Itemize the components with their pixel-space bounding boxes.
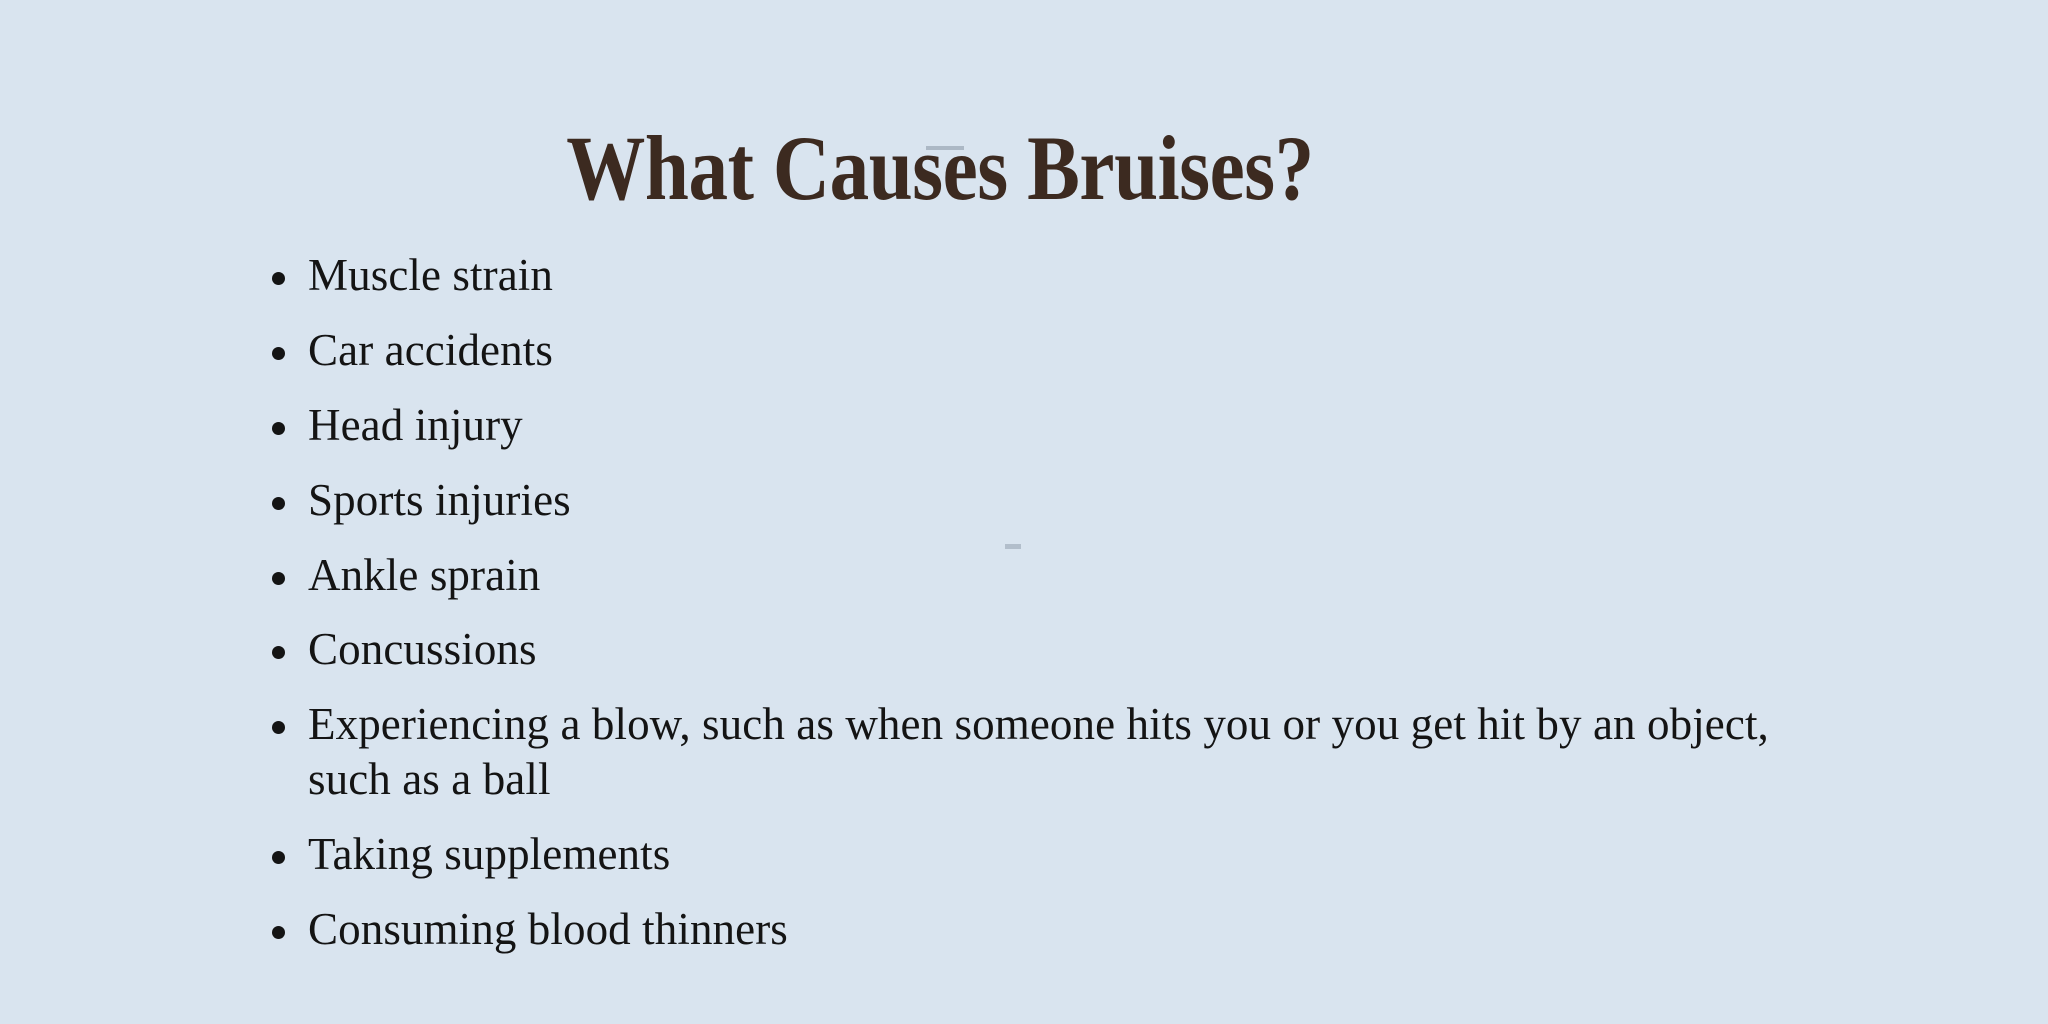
list-item: Car accidents <box>262 323 1822 378</box>
list-item: Muscle strain <box>262 248 1822 303</box>
list-item-label: Ankle sprain <box>308 550 540 600</box>
list-item-label: Car accidents <box>308 325 553 375</box>
list-item-label: Concussions <box>308 624 537 674</box>
list-item-label: Taking supplements <box>308 829 670 879</box>
list-item: Sports injuries <box>262 473 1822 528</box>
list-item: Head injury <box>262 398 1822 453</box>
list-item-label: Sports injuries <box>308 475 571 525</box>
page-title: What Causes Bruises? <box>132 120 1749 217</box>
list-item-label: Experiencing a blow, such as when someon… <box>308 699 1769 804</box>
slide-canvas: What Causes Bruises? Muscle strain Car a… <box>0 0 2048 1024</box>
list-item-label: Muscle strain <box>308 250 553 300</box>
list-item: Taking supplements <box>262 827 1822 882</box>
causes-bullet-list: Muscle strain Car accidents Head injury … <box>262 248 1822 957</box>
list-item: Consuming blood thinners <box>262 902 1822 957</box>
list-item-label: Head injury <box>308 400 523 450</box>
list-item: Ankle sprain <box>262 548 1822 603</box>
list-item: Concussions <box>262 622 1822 677</box>
list-item-label: Consuming blood thinners <box>308 904 788 954</box>
list-item: Experiencing a blow, such as when someon… <box>262 697 1818 807</box>
